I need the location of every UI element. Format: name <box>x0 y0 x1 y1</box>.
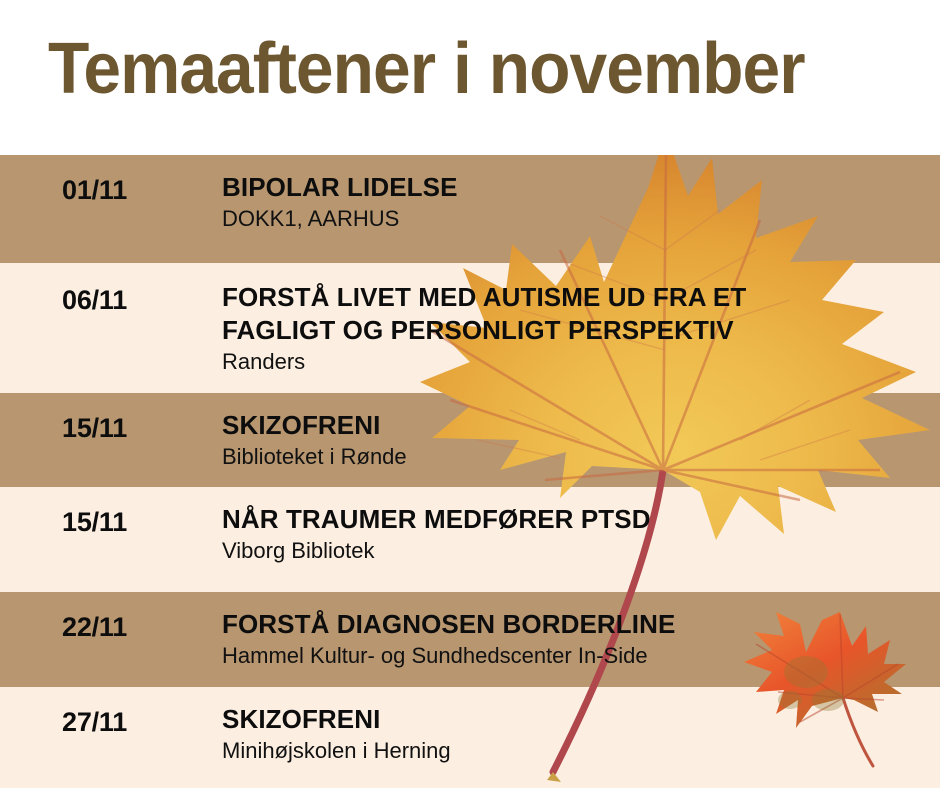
event-title: SKIZOFRENI <box>222 409 930 442</box>
event-row[interactable]: 15/11SKIZOFRENIBiblioteket i Rønde <box>0 393 940 487</box>
event-row[interactable]: 06/11FORSTÅ LIVET MED AUTISME UD FRA ETF… <box>0 263 940 393</box>
event-date: 27/11 <box>62 707 127 738</box>
event-title-line-2: FAGLIGT OG PERSONLIGT PERSPEKTIV <box>222 314 930 347</box>
event-row[interactable]: 22/11FORSTÅ DIAGNOSEN BORDERLINEHammel K… <box>0 592 940 687</box>
event-venue: DOKK1, AARHUS <box>222 204 930 233</box>
event-venue: Minihøjskolen i Herning <box>222 736 930 765</box>
page-title: Temaaftener i november <box>48 26 805 112</box>
event-row[interactable]: 27/11SKIZOFRENIMinihøjskolen i Herning <box>0 687 940 788</box>
event-row[interactable]: 01/11BIPOLAR LIDELSEDOKK1, AARHUS <box>0 155 940 263</box>
event-title: BIPOLAR LIDELSE <box>222 171 930 204</box>
event-title: FORSTÅ LIVET MED AUTISME UD FRA ET <box>222 281 930 314</box>
event-date: 15/11 <box>62 507 127 538</box>
event-venue: Viborg Bibliotek <box>222 536 930 565</box>
event-venue: Randers <box>222 347 930 376</box>
event-title: FORSTÅ DIAGNOSEN BORDERLINE <box>222 608 930 641</box>
event-date: 22/11 <box>62 612 127 643</box>
event-date: 06/11 <box>62 285 127 316</box>
event-details: FORSTÅ DIAGNOSEN BORDERLINEHammel Kultur… <box>222 608 930 670</box>
event-details: BIPOLAR LIDELSEDOKK1, AARHUS <box>222 171 930 233</box>
event-date: 01/11 <box>62 175 127 206</box>
poster-header: Temaaftener i november <box>0 0 940 155</box>
event-venue: Hammel Kultur- og Sundhedscenter In-Side <box>222 641 930 670</box>
poster-canvas: 01/11BIPOLAR LIDELSEDOKK1, AARHUS06/11FO… <box>0 0 940 788</box>
event-row[interactable]: 15/11NÅR TRAUMER MEDFØRER PTSDViborg Bib… <box>0 487 940 592</box>
event-title: NÅR TRAUMER MEDFØRER PTSD <box>222 503 930 536</box>
event-date: 15/11 <box>62 413 127 444</box>
event-details: NÅR TRAUMER MEDFØRER PTSDViborg Bibliote… <box>222 503 930 565</box>
event-details: FORSTÅ LIVET MED AUTISME UD FRA ETFAGLIG… <box>222 281 930 376</box>
event-details: SKIZOFRENIMinihøjskolen i Herning <box>222 703 930 765</box>
event-title: SKIZOFRENI <box>222 703 930 736</box>
event-details: SKIZOFRENIBiblioteket i Rønde <box>222 409 930 471</box>
event-venue: Biblioteket i Rønde <box>222 442 930 471</box>
